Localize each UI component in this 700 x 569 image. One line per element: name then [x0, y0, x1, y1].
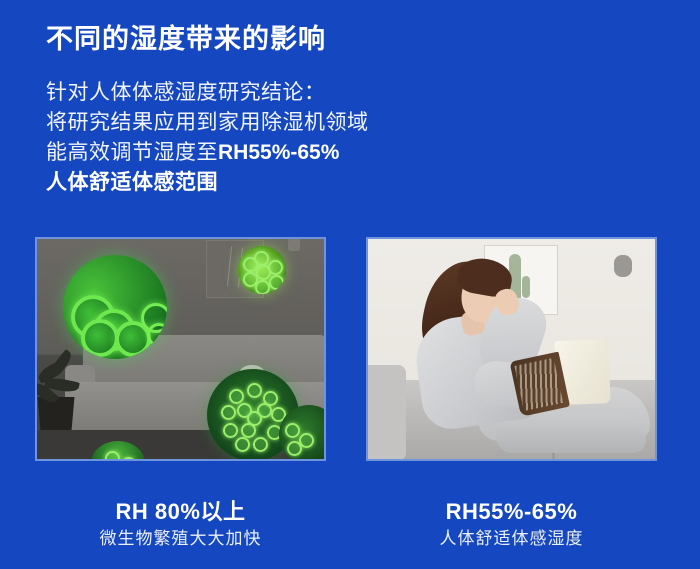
caption-main-text: RH 80%以上 — [35, 498, 326, 526]
page-title: 不同的湿度带来的影响 — [46, 17, 326, 56]
germ-spike — [241, 423, 256, 438]
body-line-3-prefix: 能高效调节湿度至 — [46, 141, 218, 164]
caption-sub-text: 微生物繁殖大大加快 — [35, 526, 326, 552]
germ-spike — [235, 437, 250, 452]
germ-spike — [285, 423, 300, 438]
germ-spike — [237, 403, 252, 418]
photo-comfort-humidity — [366, 237, 657, 461]
germ-cluster-large — [63, 255, 167, 359]
germ-spike — [223, 423, 238, 438]
germ-spike — [229, 389, 244, 404]
caption-sub-text: 人体舒适体感湿度 — [366, 526, 657, 552]
germ-blob — [81, 319, 119, 357]
book-icon — [510, 337, 615, 418]
photo-comfort-humidity-scene — [366, 237, 657, 461]
germ-spike — [105, 451, 120, 461]
poster-root: 不同的湿度带来的影响 针对人体体感湿度研究结论： 将研究结果应用到家用除湿机领域… — [0, 0, 700, 569]
germ-spike — [256, 265, 271, 280]
photo-high-humidity — [35, 237, 326, 461]
germ-spike — [269, 275, 284, 290]
caption-comfort-humidity: RH55%-65% 人体舒适体感湿度 — [366, 498, 657, 552]
caption-main-text: RH55%-65% — [366, 498, 657, 526]
photo-high-humidity-scene — [35, 237, 326, 461]
germ-spike — [299, 433, 314, 448]
germ-spike — [253, 437, 268, 452]
body-copy-block: 针对人体体感湿度研究结论： 将研究结果应用到家用除湿机领域 能高效调节湿度至RH… — [46, 78, 526, 198]
germ-spike — [257, 403, 272, 418]
pendant-lamp-icon — [288, 237, 300, 251]
germ-spike — [221, 405, 236, 420]
germ-ring — [147, 323, 167, 347]
body-line-2: 将研究结果应用到家用除湿机领域 — [46, 108, 526, 138]
body-line-3: 能高效调节湿度至RH55%-65% — [46, 138, 526, 168]
caption-high-humidity: RH 80%以上 微生物繁殖大大加快 — [35, 498, 326, 552]
body-line-1: 针对人体体感湿度研究结论： — [46, 78, 526, 108]
germ-spike — [121, 457, 136, 461]
germ-small-top — [238, 246, 286, 294]
body-line-4: 人体舒适体感范围 — [46, 168, 526, 198]
germ-spike — [247, 383, 262, 398]
body-line-3-highlight: RH55%-65% — [218, 141, 339, 164]
